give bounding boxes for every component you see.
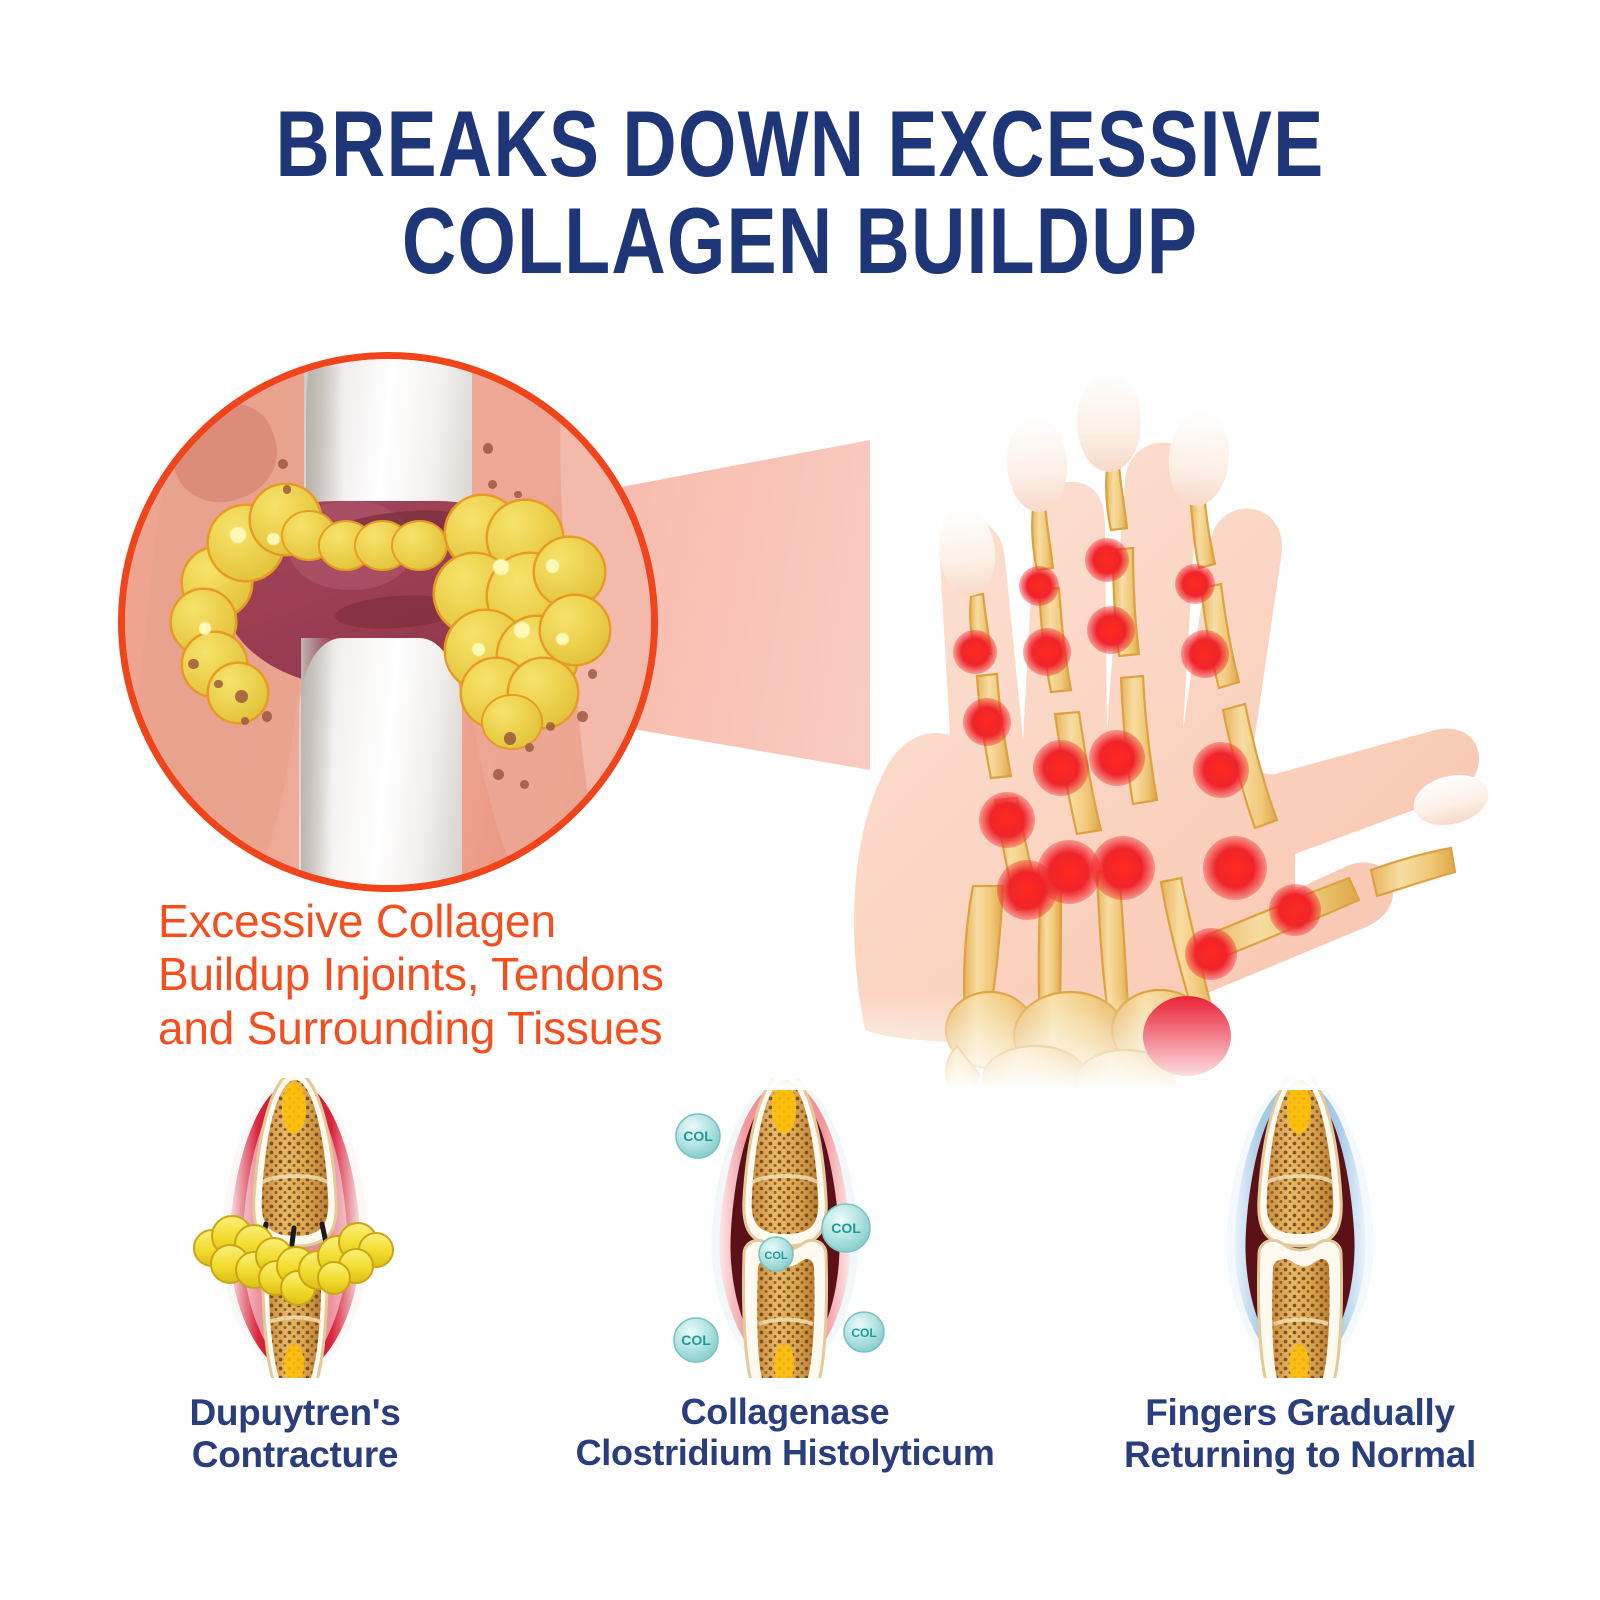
collagen-deposit <box>541 596 609 664</box>
excessive-collagen-caption: Excessive Collagen Buildup Injoints, Ten… <box>158 895 798 1055</box>
joint-stage-panels: Dupuytren's Contracture <box>0 1078 1600 1578</box>
collagen-sparkle <box>493 559 509 575</box>
tissue-spot <box>483 443 494 454</box>
joint-diagram-collagen-buildup <box>170 1078 420 1378</box>
collagen-sparkle <box>556 633 569 646</box>
tissue-spot <box>235 690 248 703</box>
caption-line-3: and Surrounding Tissues <box>158 1002 798 1055</box>
collagen-sparkle <box>514 622 530 638</box>
tissue-spot <box>283 485 291 493</box>
tissue-spot <box>262 711 273 722</box>
svg-text:COL: COL <box>831 1220 861 1236</box>
caption-line-1: Excessive Collagen <box>158 895 798 948</box>
joint-diagram-healthy <box>1175 1078 1425 1378</box>
svg-text:COL: COL <box>764 1250 788 1262</box>
panel-label: Dupuytren's Contracture <box>85 1392 505 1476</box>
panel-label: Collagenase Clostridium Histolyticum <box>575 1392 995 1473</box>
panel-label-line-1: Dupuytren's <box>85 1392 505 1434</box>
svg-text:COL: COL <box>851 1326 876 1340</box>
joint-diagram-enzyme-treatment: COLCOL COL COLCOL <box>660 1078 910 1378</box>
panel-label-line-2: Returning to Normal <box>1090 1434 1510 1476</box>
svg-text:COL: COL <box>683 1128 713 1144</box>
caption-line-2: Buildup Injoints, Tendons <box>158 948 798 1001</box>
tissue-spot <box>493 769 504 780</box>
tissue-spot <box>214 680 222 688</box>
tissue-spot <box>588 669 597 678</box>
collagen-sparkle <box>267 533 280 546</box>
collagen-sparkle <box>230 527 246 543</box>
panel-label: Fingers Gradually Returning to Normal <box>1090 1392 1510 1476</box>
panel-label-line-1: Collagenase <box>575 1392 995 1433</box>
page-title: BREAKS DOWN EXCESSIVE COLLAGEN BUILDUP <box>160 96 1440 290</box>
collagen-sparkle <box>546 559 560 573</box>
tissue-spot <box>188 659 199 670</box>
panel-label-line-2: Clostridium Histolyticum <box>575 1433 995 1474</box>
collagen-sparkle <box>199 622 212 635</box>
panel-label-line-1: Fingers Gradually <box>1090 1392 1510 1434</box>
tissue-spot <box>577 711 588 722</box>
panel-dupuytrens-contracture[interactable]: Dupuytren's Contracture <box>85 1078 505 1476</box>
panel-label-line-2: Contracture <box>85 1434 505 1476</box>
page-title-line-2: COLLAGEN BUILDUP <box>160 193 1440 290</box>
lower-bone-shading <box>301 638 333 892</box>
collagen-sparkle <box>472 643 485 656</box>
panel-fingers-returning-to-normal[interactable]: Fingers Gradually Returning to Normal <box>1090 1078 1510 1476</box>
svg-text:COL: COL <box>681 1332 711 1348</box>
collagen-deposit <box>393 522 446 569</box>
panel-collagenase-treatment[interactable]: COLCOL COL COLCOL Collagenase Clostridiu… <box>575 1078 995 1473</box>
page-title-line-1: BREAKS DOWN EXCESSIVE <box>160 96 1440 193</box>
magnified-joint-cross-section <box>118 352 658 892</box>
magnifier-section <box>118 352 658 892</box>
arthritic-hand-illustration <box>735 330 1505 1090</box>
